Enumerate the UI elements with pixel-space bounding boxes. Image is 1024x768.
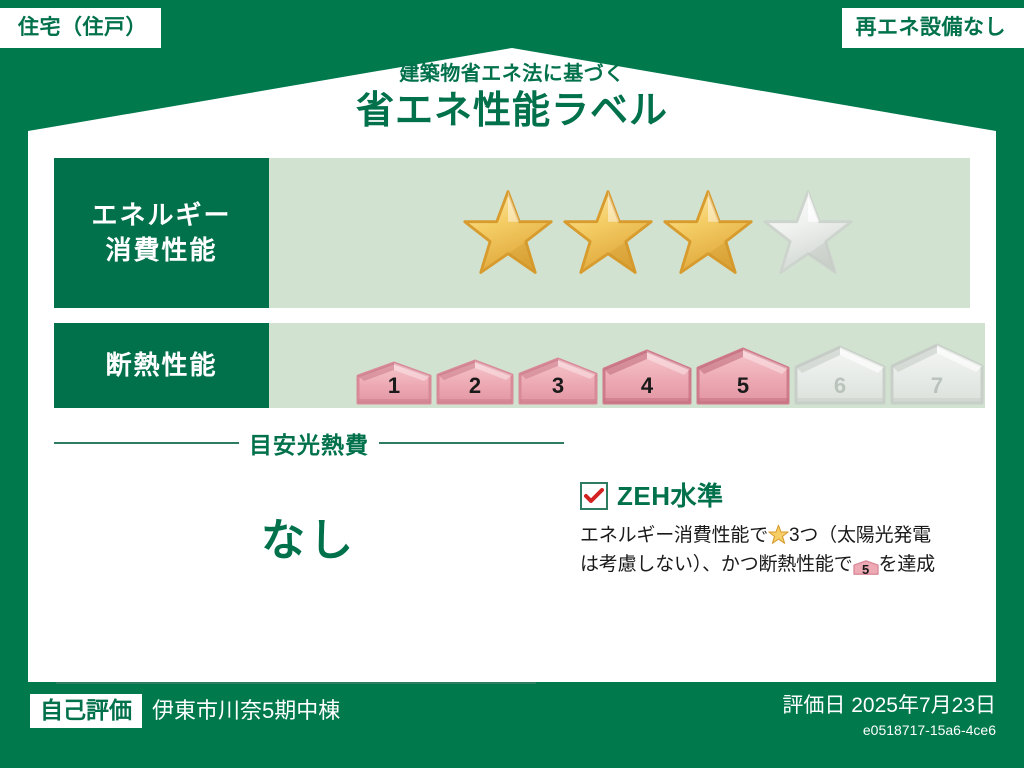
house-badge-icon	[517, 356, 599, 406]
zeh-checkbox[interactable]	[580, 482, 608, 510]
inline-house-number: 5	[853, 554, 879, 583]
insulation-performance-row: 断熱性能	[54, 323, 970, 408]
energy-performance-panel	[269, 158, 970, 308]
grade-house-2: 2	[435, 358, 515, 406]
house-badge-icon	[793, 344, 887, 406]
insulation-performance-label: 断熱性能	[54, 323, 269, 408]
inline-house-wrap: 5	[853, 554, 879, 583]
checkmark-icon	[584, 488, 604, 504]
energy-performance-label: エネルギー 消費性能	[54, 158, 269, 308]
footer-left: 自己評価 伊東市川奈5期中棟	[30, 694, 340, 728]
zeh-description: エネルギー消費性能で3つ（太陽光発電は考慮しない）、かつ断熱性能で5を達成	[580, 521, 1000, 584]
zeh-title: ZEH水準	[617, 483, 724, 509]
rule-left	[54, 442, 239, 444]
footer: 自己評価 伊東市川奈5期中棟 評価日 2025年7月23日 e0518717-1…	[0, 682, 1024, 768]
zeh-desc-part1: エネルギー消費性能で	[580, 525, 768, 546]
energy-label-line1: エネルギー	[91, 198, 231, 233]
evaluation-date: 評価日 2025年7月23日	[782, 692, 996, 719]
energy-performance-label: 住宅（住戸） 再エネ設備なし 建築物省エネ法に基づく 省エネ性能ラベル エネルギ…	[0, 0, 1024, 768]
utility-cost-heading: 目安光熱費	[249, 426, 369, 460]
grade-house-3: 3	[517, 356, 599, 406]
utility-cost-block: 目安光熱費 なし	[54, 426, 564, 568]
house-badge-icon	[601, 348, 693, 406]
star-rating	[461, 186, 855, 280]
utility-cost-value: なし	[54, 504, 564, 568]
building-type-tag: 住宅（住戸）	[0, 8, 161, 48]
footer-right: 評価日 2025年7月23日 e0518717-15a6-4ce6	[782, 692, 996, 741]
zeh-desc-part3: を達成	[879, 554, 935, 575]
star-filled-icon	[561, 186, 655, 280]
renewable-energy-tag: 再エネ設備なし	[842, 8, 1024, 48]
house-badge-icon	[355, 360, 433, 406]
star-empty-icon	[761, 186, 855, 280]
insulation-performance-panel: 1 2	[269, 323, 985, 408]
grade-house-1: 1	[355, 360, 433, 406]
zeh-desc-part2: は考慮しない）、かつ断熱性能で	[580, 554, 853, 575]
insulation-label-text: 断熱性能	[105, 348, 217, 383]
zeh-title-row: ZEH水準	[580, 482, 1000, 510]
inline-star-icon	[768, 524, 789, 545]
energy-performance-row: エネルギー 消費性能	[54, 158, 970, 308]
star-filled-icon	[461, 186, 555, 280]
house-badge-icon	[889, 342, 985, 406]
grade-house-5: 5	[695, 346, 791, 406]
zeh-desc-star-count: 3つ（太陽光発電	[789, 525, 931, 546]
utility-cost-heading-row: 目安光熱費	[54, 426, 564, 460]
energy-label-line2: 消費性能	[105, 233, 217, 268]
lower-section: 目安光熱費 なし ZEH水準 エネルギー消費性能で3つ（太陽光発電は考慮しない）…	[28, 426, 996, 682]
evaluation-id: e0518717-15a6-4ce6	[782, 721, 996, 741]
house-badge-icon	[695, 346, 791, 406]
star-filled-icon	[661, 186, 755, 280]
insulation-grade-scale: 1 2	[355, 321, 985, 410]
card-content: エネルギー 消費性能	[28, 48, 996, 682]
grade-house-6: 6	[793, 344, 887, 406]
house-badge-icon	[435, 358, 515, 406]
property-name: 伊東市川奈5期中棟	[152, 700, 340, 722]
grade-house-7: 7	[889, 342, 985, 406]
rule-right	[379, 442, 564, 444]
zeh-block: ZEH水準 エネルギー消費性能で3つ（太陽光発電は考慮しない）、かつ断熱性能で5…	[580, 482, 1000, 584]
grade-house-4: 4	[601, 348, 693, 406]
evaluation-type-badge: 自己評価	[30, 694, 142, 728]
